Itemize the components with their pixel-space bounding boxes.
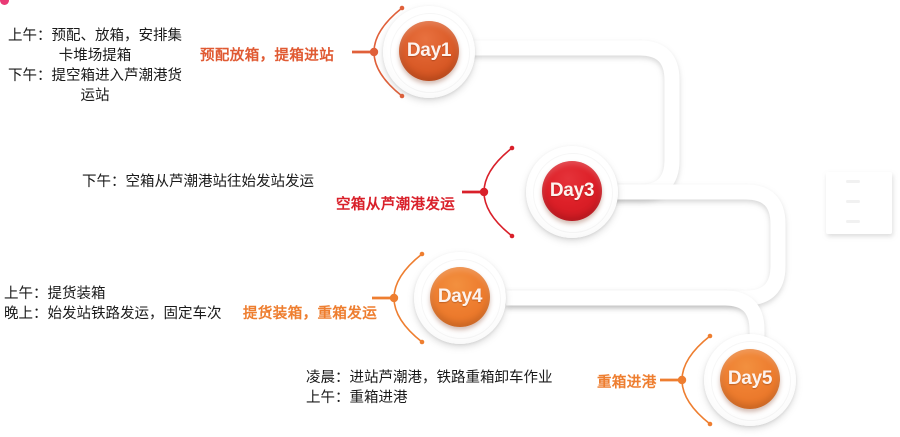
day5-tag: 重箱进港 [597,371,657,392]
node-day3[interactable]: Day3 [526,146,618,238]
day4-label: Day4 [438,286,482,308]
timeline-diagram: 上午：预配、放箱，安排集 卡堆场提箱 下午：提空箱进入芦潮港货 运站 预配放箱，… [0,0,900,437]
day1-tag: 预配放箱，提箱进站 [200,44,334,65]
node-day5[interactable]: Day5 [704,334,796,426]
node-day4[interactable]: Day4 [414,252,506,344]
day3-disc[interactable]: Day3 [542,161,602,221]
track-terminal-rails [690,183,860,223]
day3-description: 下午：空箱从芦潮港站往始发站发运 [82,172,382,192]
day3-leader [462,140,534,244]
node-day1[interactable]: Day1 [383,6,475,98]
day5-label: Day5 [728,368,772,390]
day4-tag: 提货装箱，重箱发运 [243,302,377,323]
day1-disc[interactable]: Day1 [399,21,459,81]
day4-disc[interactable]: Day4 [430,267,490,327]
track-terminal-pins [846,180,860,223]
track-terminal-block [826,172,892,234]
day4-description: 上午：提货装箱 晚上：始发站铁路发运，固定车次 [4,284,244,324]
day1-description: 上午：预配、放箱，安排集 卡堆场提箱 下午：提空箱进入芦潮港货 运站 [0,26,190,106]
corner-dot-decoration [0,0,9,5]
day5-disc[interactable]: Day5 [720,349,780,409]
day5-description: 凌晨：进站芦潮港，铁路重箱卸车作业 上午：重箱进港 [306,368,606,408]
day3-tag: 空箱从芦潮港发运 [336,193,455,214]
day1-label: Day1 [407,40,451,62]
day3-label: Day3 [550,180,594,202]
